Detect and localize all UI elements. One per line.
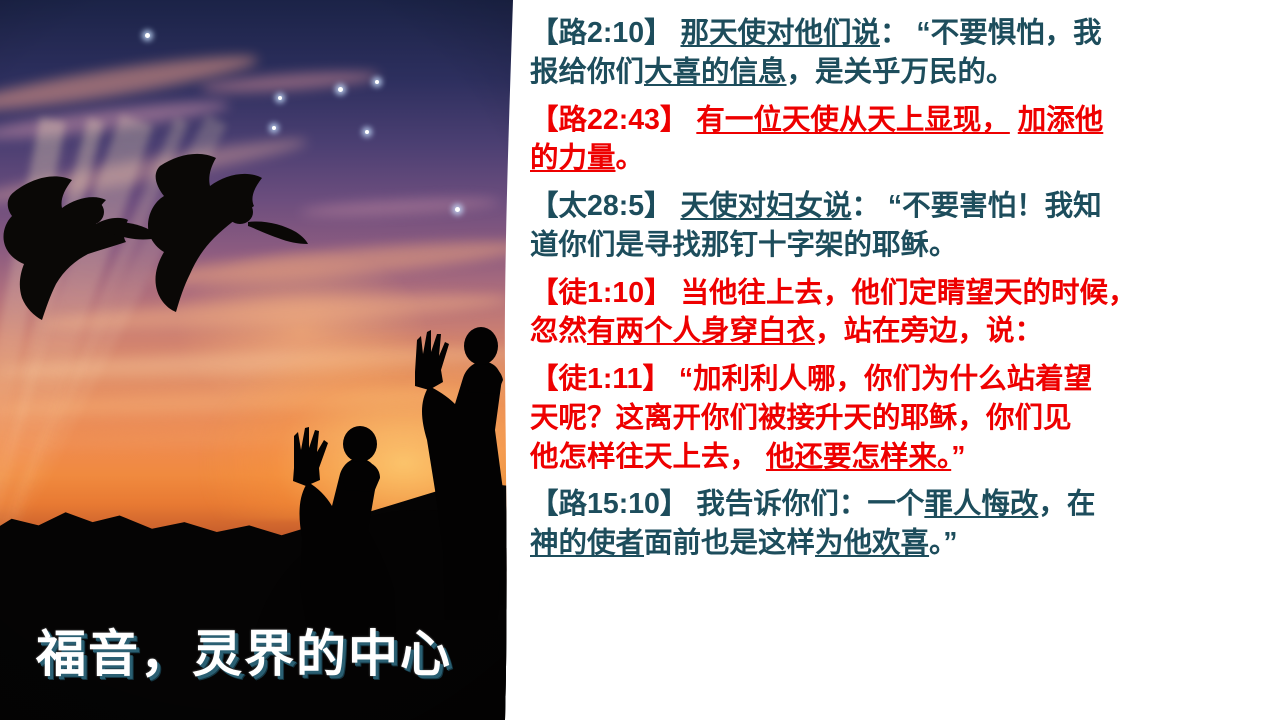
verse-text: 当他往上去，他们定睛望天的时候，	[680, 277, 1136, 309]
verse-reference: 【路15:10】	[530, 488, 688, 520]
verse-paragraph: 【路2:10】 那天使对他们说： “不要惧怕，我报给你们大喜的信息，是关乎万民的…	[530, 14, 1254, 92]
verse-paragraph: 【太28:5】 天使对妇女说： “不要害怕！我知道你们是寻找那钉十字架的耶稣。	[530, 187, 1254, 265]
sunset-angels-photo	[0, 0, 520, 720]
verse-text-underlined: 他还要怎样来。	[766, 441, 951, 473]
verse-text: 面前也是这样	[644, 527, 815, 559]
verse-paragraph: 【徒1:11】 “加利利人哪，你们为什么站着望天呢？这离开你们被接升天的耶稣，你…	[530, 360, 1254, 476]
verse-text-underlined: 有两个人身穿白衣	[587, 315, 815, 347]
verse-text-underlined: 为他欢喜	[815, 527, 929, 559]
verse-text: 报给你们	[530, 56, 644, 88]
verse-text-underlined: 的力量	[530, 142, 616, 174]
verse-reference: 【徒1:10】	[530, 277, 673, 309]
verse-text: ，在	[1038, 488, 1095, 520]
verse-paragraph: 【徒1:10】 当他往上去，他们定睛望天的时候，忽然有两个人身穿白衣，站在旁边，…	[530, 274, 1254, 352]
verse-text: 道你们是寻找那钉十字架的耶稣。	[530, 229, 958, 261]
verse-text-underlined: 神的使者	[530, 527, 644, 559]
verse-text-underlined: 罪人悔改	[924, 488, 1038, 520]
verse-paragraph: 【路15:10】 我告诉你们：一个罪人悔改，在神的使者面前也是这样为他欢喜。”	[530, 485, 1254, 563]
verse-text-underlined: 大喜的信息	[644, 56, 787, 88]
verse-text: 。”	[929, 527, 958, 559]
verse-text: ，站在旁边，说：	[815, 315, 1043, 347]
verse-paragraph: 【路22:43】 有一位天使从天上显现， 加添他的力量。	[530, 101, 1254, 179]
verse-reference: 【徒1:11】	[530, 363, 671, 395]
verse-text-underlined: 有一位天使从天上显现，	[696, 104, 1010, 136]
verse-text: 他怎样往天上去，	[530, 441, 758, 473]
presentation-slide: 福音，灵界的中心 【路2:10】 那天使对他们说： “不要惧怕，我报给你们大喜的…	[0, 0, 1280, 720]
verse-text	[758, 441, 766, 473]
verse-text: “加利利人哪，你们为什么站着望	[671, 363, 1092, 395]
verse-text: “不要害怕！我知	[880, 190, 1102, 222]
verse-text	[1010, 104, 1018, 136]
verse-text: 。	[616, 142, 645, 174]
verse-text: ：	[851, 190, 880, 222]
verse-text: 天呢？这离开你们被接升天的耶稣，你们见	[530, 402, 1072, 434]
verse-text: ：	[880, 17, 909, 49]
photo-vignette	[0, 0, 520, 720]
slide-title: 福音，灵界的中心	[36, 614, 452, 686]
verse-text: 忽然	[530, 315, 587, 347]
verse-text: ”	[951, 441, 965, 473]
verse-reference: 【路22:43】	[530, 104, 688, 136]
verse-text-underlined: 天使对妇女说	[680, 190, 851, 222]
scripture-text-panel: 【路2:10】 那天使对他们说： “不要惧怕，我报给你们大喜的信息，是关乎万民的…	[530, 14, 1254, 708]
verse-reference: 【路2:10】	[530, 17, 673, 49]
verse-text: “不要惧怕，我	[909, 17, 1102, 49]
verse-text-underlined: 那天使对他们说	[680, 17, 880, 49]
verse-text: 我告诉你们：一个	[688, 488, 924, 520]
verse-text: ，是关乎万民的。	[787, 56, 1015, 88]
verse-reference: 【太28:5】	[530, 190, 673, 222]
verse-text-underlined: 加添他	[1018, 104, 1104, 136]
